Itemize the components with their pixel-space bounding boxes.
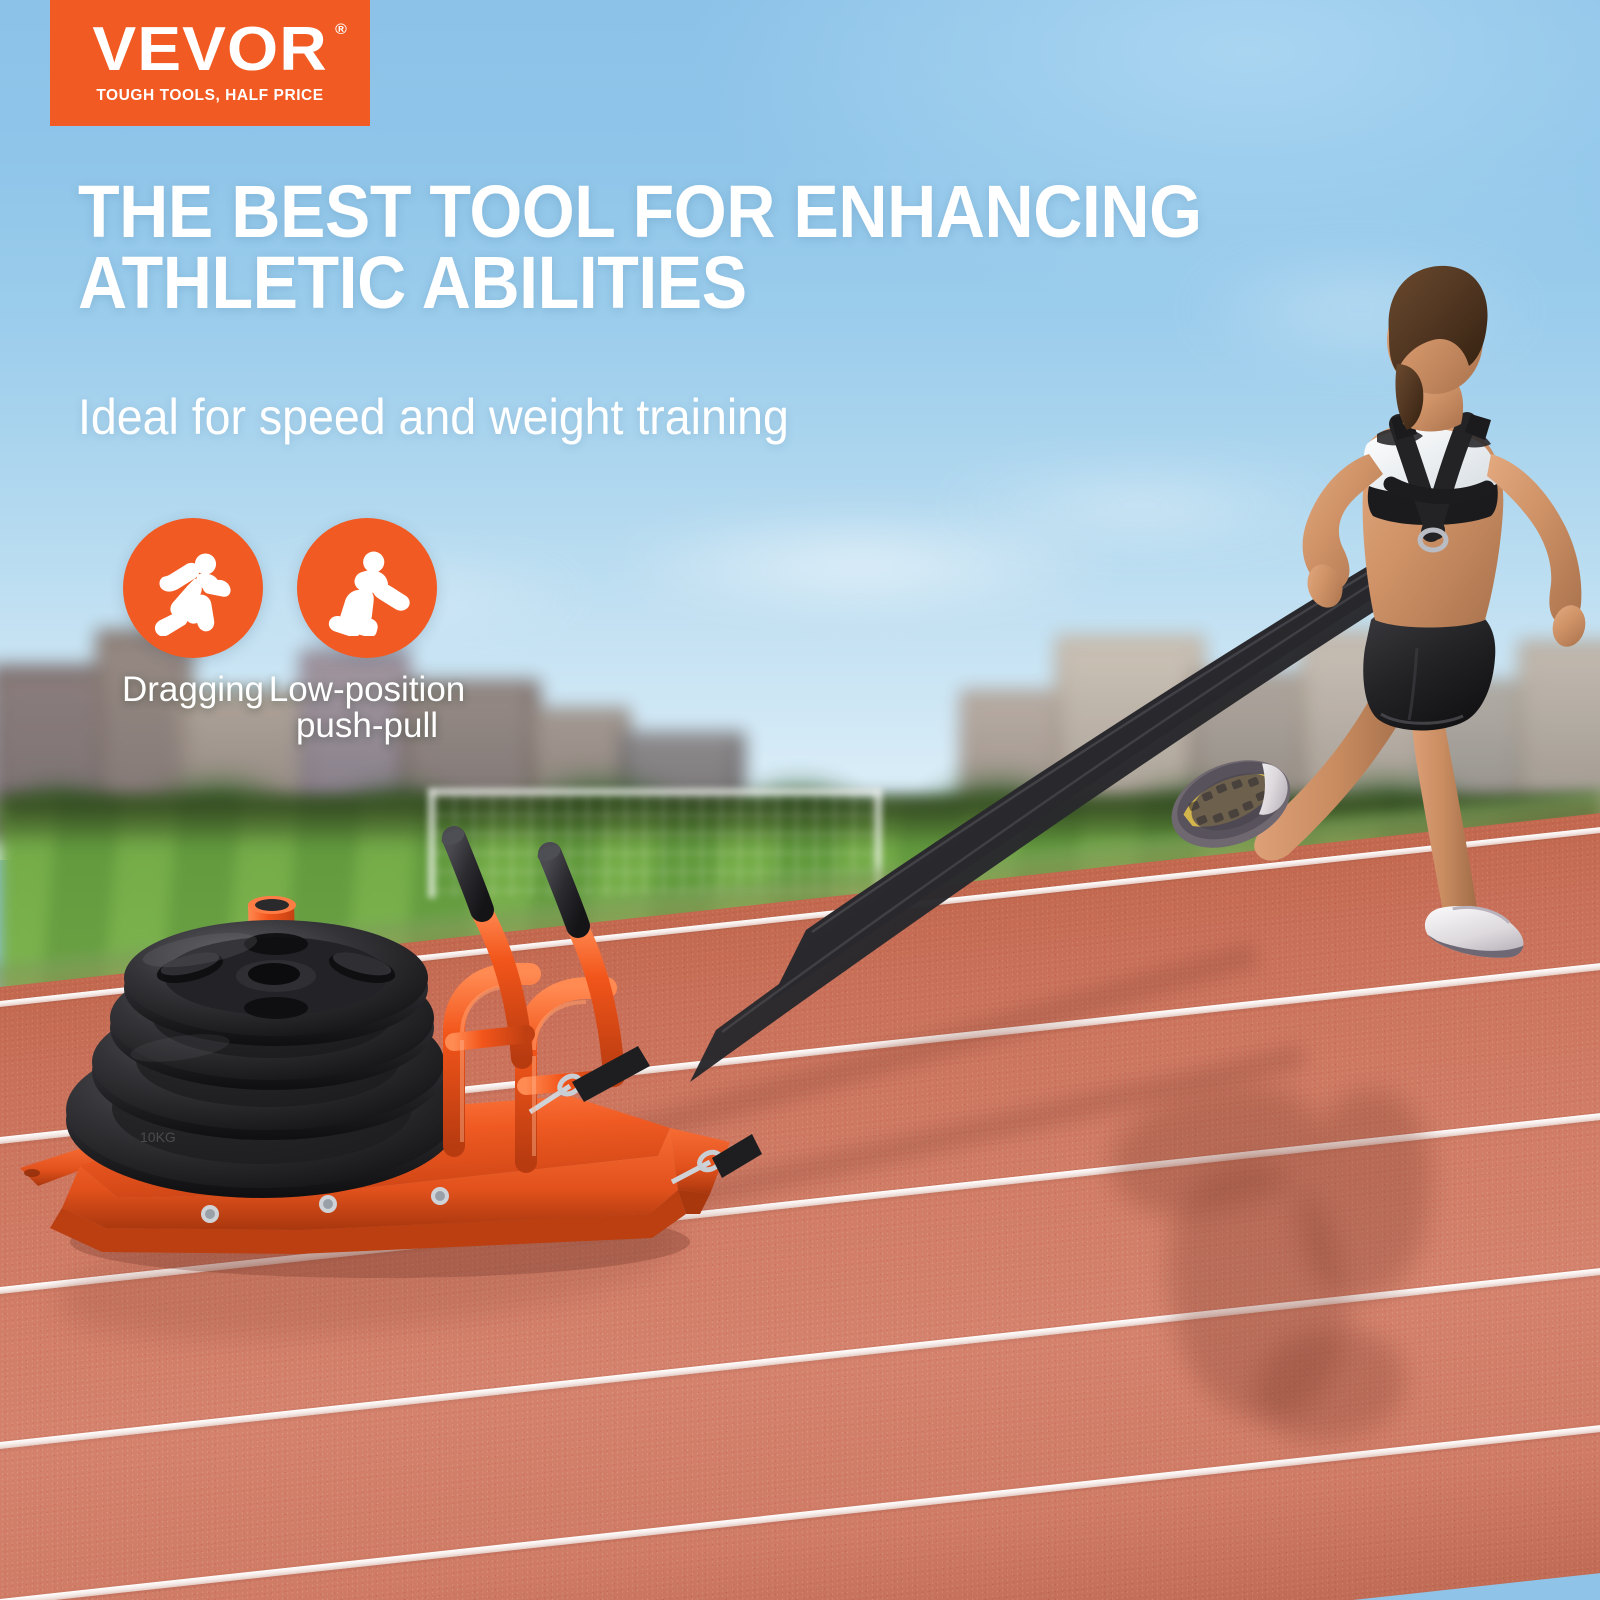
athlete-shoe-planted <box>1421 900 1528 964</box>
vevor-logo: VEVOR ® TOUGH TOOLS, HALF PRICE <box>50 0 370 126</box>
sled-handle-front <box>535 842 614 1076</box>
brand-tagline: TOUGH TOOLS, HALF PRICE <box>96 87 323 105</box>
feature-badge-list: Dragging Low-position <box>118 518 442 743</box>
feature-badge-dragging: Dragging <box>118 518 268 743</box>
weight-training-sled: 10KG <box>10 790 750 1290</box>
athlete-runner <box>1185 248 1600 968</box>
sled-weight-plates: 10KG <box>66 920 458 1198</box>
brand-name-text: VEVOR <box>92 15 327 84</box>
feature-label: Dragging <box>122 672 264 708</box>
running-figure-icon <box>145 540 241 636</box>
page-subtitle: Ideal for speed and weight training <box>78 392 789 442</box>
brand-name: VEVOR ® <box>92 21 327 78</box>
feature-icon-circle <box>297 518 437 658</box>
feature-label-line-1: Dragging <box>122 670 264 709</box>
crouching-push-figure-icon <box>319 540 415 636</box>
athlete-right-arm <box>1487 454 1581 625</box>
registered-trademark-icon: ® <box>335 23 348 37</box>
sled-cross-brace <box>454 1034 526 1042</box>
svg-text:10KG: 10KG <box>140 1129 176 1145</box>
feature-icon-circle <box>123 518 263 658</box>
page-title: THE BEST TOOL FOR ENHANCING ATHLETIC ABI… <box>78 176 1219 318</box>
product-marketing-banner: 10KG <box>0 0 1600 1600</box>
feature-badge-low-position-push-pull: Low-position push-pull <box>292 518 442 743</box>
feature-label: Low-position push-pull <box>269 672 466 743</box>
feature-label-line-1: Low-position <box>269 670 466 709</box>
headline-line-2: ATHLETIC ABILITIES <box>78 247 1219 318</box>
feature-label-line-2: push-pull <box>269 708 466 744</box>
